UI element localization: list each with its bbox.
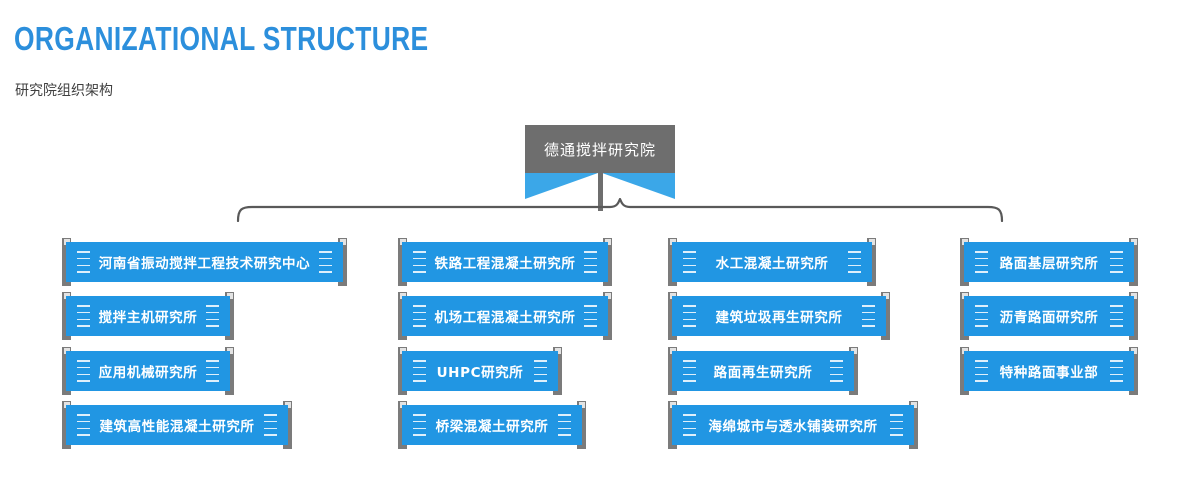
org-node-label: UHPC研究所 [437, 361, 524, 381]
org-node-label: 应用机械研究所 [99, 361, 198, 381]
org-node[interactable]: 桥梁混凝土研究所 [398, 405, 586, 445]
banner-stripes-left-icon [683, 360, 696, 382]
banner-stripes-right-icon [862, 305, 875, 327]
page-subtitle: 研究院组织架构 [15, 80, 113, 100]
org-node-label: 搅拌主机研究所 [99, 306, 198, 326]
org-node[interactable]: 沥青路面研究所 [960, 296, 1138, 336]
org-node-label: 机场工程混凝土研究所 [435, 306, 576, 326]
org-node-label: 河南省振动搅拌工程技术研究中心 [99, 252, 311, 272]
org-node-label: 铁路工程混凝土研究所 [435, 252, 576, 272]
banner-body[interactable]: 路面再生研究所 [672, 351, 854, 391]
banner-stripes-right-icon [534, 360, 547, 382]
banner-body[interactable]: 铁路工程混凝土研究所 [402, 242, 608, 282]
org-node-label: 桥梁混凝土研究所 [436, 415, 549, 435]
banner-body[interactable]: UHPC研究所 [402, 351, 558, 391]
banner-stripes-right-icon [558, 414, 571, 436]
org-node[interactable]: 河南省振动搅拌工程技术研究中心 [62, 242, 347, 282]
org-node[interactable]: 路面基层研究所 [960, 242, 1138, 282]
org-node[interactable]: UHPC研究所 [398, 351, 562, 391]
banner-stripes-left-icon [77, 251, 90, 273]
banner-stripes-left-icon [683, 305, 696, 327]
banner-body[interactable]: 机场工程混凝土研究所 [402, 296, 608, 336]
root-node-label: 德通搅拌研究院 [544, 139, 656, 160]
banner-stripes-left-icon [413, 305, 426, 327]
org-node[interactable]: 搅拌主机研究所 [62, 296, 234, 336]
organizational-structure-page: ORGANIZATIONAL STRUCTURE 研究院组织架构 德通搅拌研究院… [0, 0, 1200, 491]
banner-body[interactable]: 搅拌主机研究所 [66, 296, 230, 336]
banner-body[interactable]: 应用机械研究所 [66, 351, 230, 391]
banner-stripes-right-icon [848, 251, 861, 273]
page-title: ORGANIZATIONAL STRUCTURE [14, 22, 574, 57]
banner-stripes-right-icon [206, 305, 219, 327]
org-node[interactable]: 建筑高性能混凝土研究所 [62, 405, 292, 445]
banner-body[interactable]: 特种路面事业部 [964, 351, 1134, 391]
root-node-box[interactable]: 德通搅拌研究院 [525, 125, 675, 173]
page-header: ORGANIZATIONAL STRUCTURE 研究院组织架构 [14, 22, 714, 57]
banner-body[interactable]: 河南省振动搅拌工程技术研究中心 [66, 242, 343, 282]
banner-stripes-right-icon [1110, 360, 1123, 382]
banner-body[interactable]: 路面基层研究所 [964, 242, 1134, 282]
org-node[interactable]: 建筑垃圾再生研究所 [668, 296, 890, 336]
banner-stripes-left-icon [975, 360, 988, 382]
banner-stripes-left-icon [77, 305, 90, 327]
org-node[interactable]: 水工混凝土研究所 [668, 242, 876, 282]
chevron-right-wing [602, 173, 675, 199]
org-node[interactable]: 路面再生研究所 [668, 351, 858, 391]
banner-body[interactable]: 水工混凝土研究所 [672, 242, 872, 282]
banner-stripes-left-icon [413, 251, 426, 273]
banner-stripes-left-icon [77, 360, 90, 382]
org-node-label: 路面再生研究所 [714, 361, 813, 381]
org-node-label: 特种路面事业部 [1000, 361, 1099, 381]
banner-stripes-left-icon [77, 414, 90, 436]
banner-stripes-left-icon [975, 305, 988, 327]
banner-stripes-right-icon [584, 251, 597, 273]
banner-stripes-right-icon [1110, 305, 1123, 327]
org-node[interactable]: 海绵城市与透水铺装研究所 [668, 405, 918, 445]
org-node[interactable]: 机场工程混凝土研究所 [398, 296, 612, 336]
banner-stripes-right-icon [206, 360, 219, 382]
banner-stripes-right-icon [319, 251, 332, 273]
banner-body[interactable]: 桥梁混凝土研究所 [402, 405, 582, 445]
root-chevron-icon [525, 173, 675, 199]
banner-stripes-right-icon [1110, 251, 1123, 273]
banner-stripes-left-icon [975, 251, 988, 273]
chevron-left-wing [525, 173, 598, 199]
org-node-label: 水工混凝土研究所 [716, 252, 829, 272]
org-node-label: 路面基层研究所 [1000, 252, 1099, 272]
banner-stripes-right-icon [830, 360, 843, 382]
banner-stripes-left-icon [683, 251, 696, 273]
org-node[interactable]: 铁路工程混凝土研究所 [398, 242, 612, 282]
banner-stripes-right-icon [264, 414, 277, 436]
org-node-label: 建筑高性能混凝土研究所 [99, 415, 254, 435]
banner-body[interactable]: 沥青路面研究所 [964, 296, 1134, 336]
banner-stripes-left-icon [683, 414, 696, 436]
org-node[interactable]: 应用机械研究所 [62, 351, 234, 391]
banner-stripes-right-icon [890, 414, 903, 436]
banner-body[interactable]: 建筑垃圾再生研究所 [672, 296, 886, 336]
org-node-label: 沥青路面研究所 [1000, 306, 1099, 326]
banner-body[interactable]: 建筑高性能混凝土研究所 [66, 405, 288, 445]
org-node-label: 建筑垃圾再生研究所 [716, 306, 843, 326]
banner-stripes-left-icon [413, 414, 426, 436]
banner-stripes-right-icon [584, 305, 597, 327]
banner-body[interactable]: 海绵城市与透水铺装研究所 [672, 405, 914, 445]
brace-connector [236, 198, 1004, 222]
banner-stripes-left-icon [413, 360, 426, 382]
org-node[interactable]: 特种路面事业部 [960, 351, 1138, 391]
root-node[interactable]: 德通搅拌研究院 [525, 125, 675, 199]
org-node-label: 海绵城市与透水铺装研究所 [708, 415, 877, 435]
